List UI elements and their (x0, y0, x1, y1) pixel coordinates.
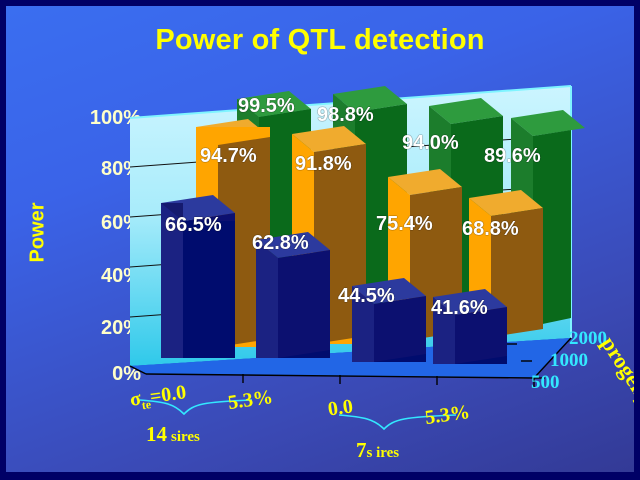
data-label-2000-g4: 89.6% (484, 145, 541, 168)
chart-background: Power of QTL detection 100% 80% 60% 40% … (6, 6, 634, 472)
data-label-500-g4: 41.6% (431, 297, 488, 320)
x-tick-label-3: 0.0 (327, 395, 355, 421)
group-label-14-sires-word: sires (171, 429, 200, 445)
group-label-14-sires: 14 sires (146, 422, 200, 447)
bar-side (278, 250, 330, 358)
x-tick-label-1-text: =0.0 (148, 381, 187, 408)
bar-leftface (256, 240, 278, 358)
plot-area (6, 6, 634, 472)
data-label-2000-g1: 99.5% (238, 95, 295, 118)
data-label-2000-g2: 98.8% (317, 104, 374, 127)
data-label-2000-g3: 94.0% (402, 132, 459, 155)
group-label-7-sires-count: 7 (356, 438, 367, 462)
data-label-1000-g4: 68.8% (462, 218, 519, 241)
data-label-1000-g1: 94.7% (200, 145, 257, 168)
data-label-500-g2: 62.8% (252, 232, 309, 255)
data-label-500-g3: 44.5% (338, 285, 395, 308)
z-tick-label-1000: 1000 (550, 350, 588, 372)
data-label-500-g1: 66.5% (165, 214, 222, 237)
slide-canvas: Power of QTL detection 100% 80% 60% 40% … (0, 0, 640, 480)
group-label-7-sires-word: s ires (367, 445, 400, 461)
data-label-1000-g3: 75.4% (376, 213, 433, 236)
data-label-1000-g2: 91.8% (295, 153, 352, 176)
group-label-14-sires-count: 14 (146, 422, 167, 446)
bar-face (183, 221, 235, 358)
z-tick-label-500: 500 (531, 372, 560, 394)
group-label-7-sires: 7s ires (356, 438, 399, 463)
